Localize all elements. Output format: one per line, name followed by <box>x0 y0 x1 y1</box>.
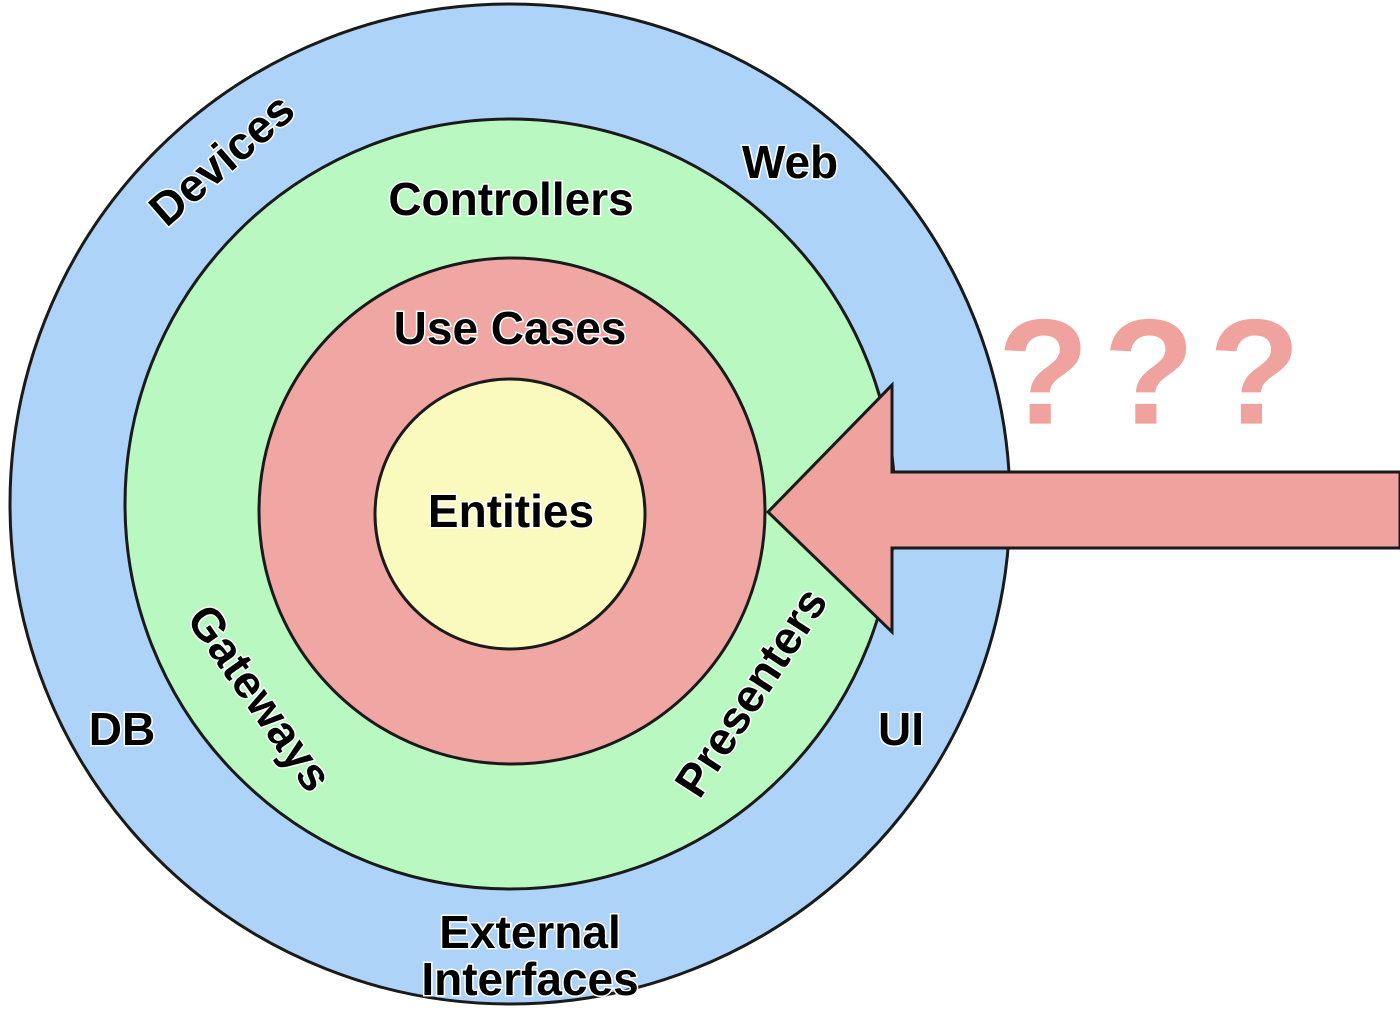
diagram-canvas: Devices Web DB UI External Interfaces Co… <box>0 0 1400 1027</box>
question-marks-annotation: ??? <box>998 288 1315 456</box>
label-entities: Entities <box>428 485 594 537</box>
label-external-interfaces-line2: Interfaces <box>421 953 638 1005</box>
clean-architecture-diagram: Devices Web DB UI External Interfaces Co… <box>0 0 1400 1027</box>
label-web: Web <box>742 136 838 188</box>
label-db: DB <box>89 703 155 755</box>
label-controllers: Controllers <box>388 173 633 225</box>
label-ui: UI <box>878 703 924 755</box>
label-external-interfaces-line1: External <box>439 906 621 958</box>
label-use-cases: Use Cases <box>394 302 627 354</box>
